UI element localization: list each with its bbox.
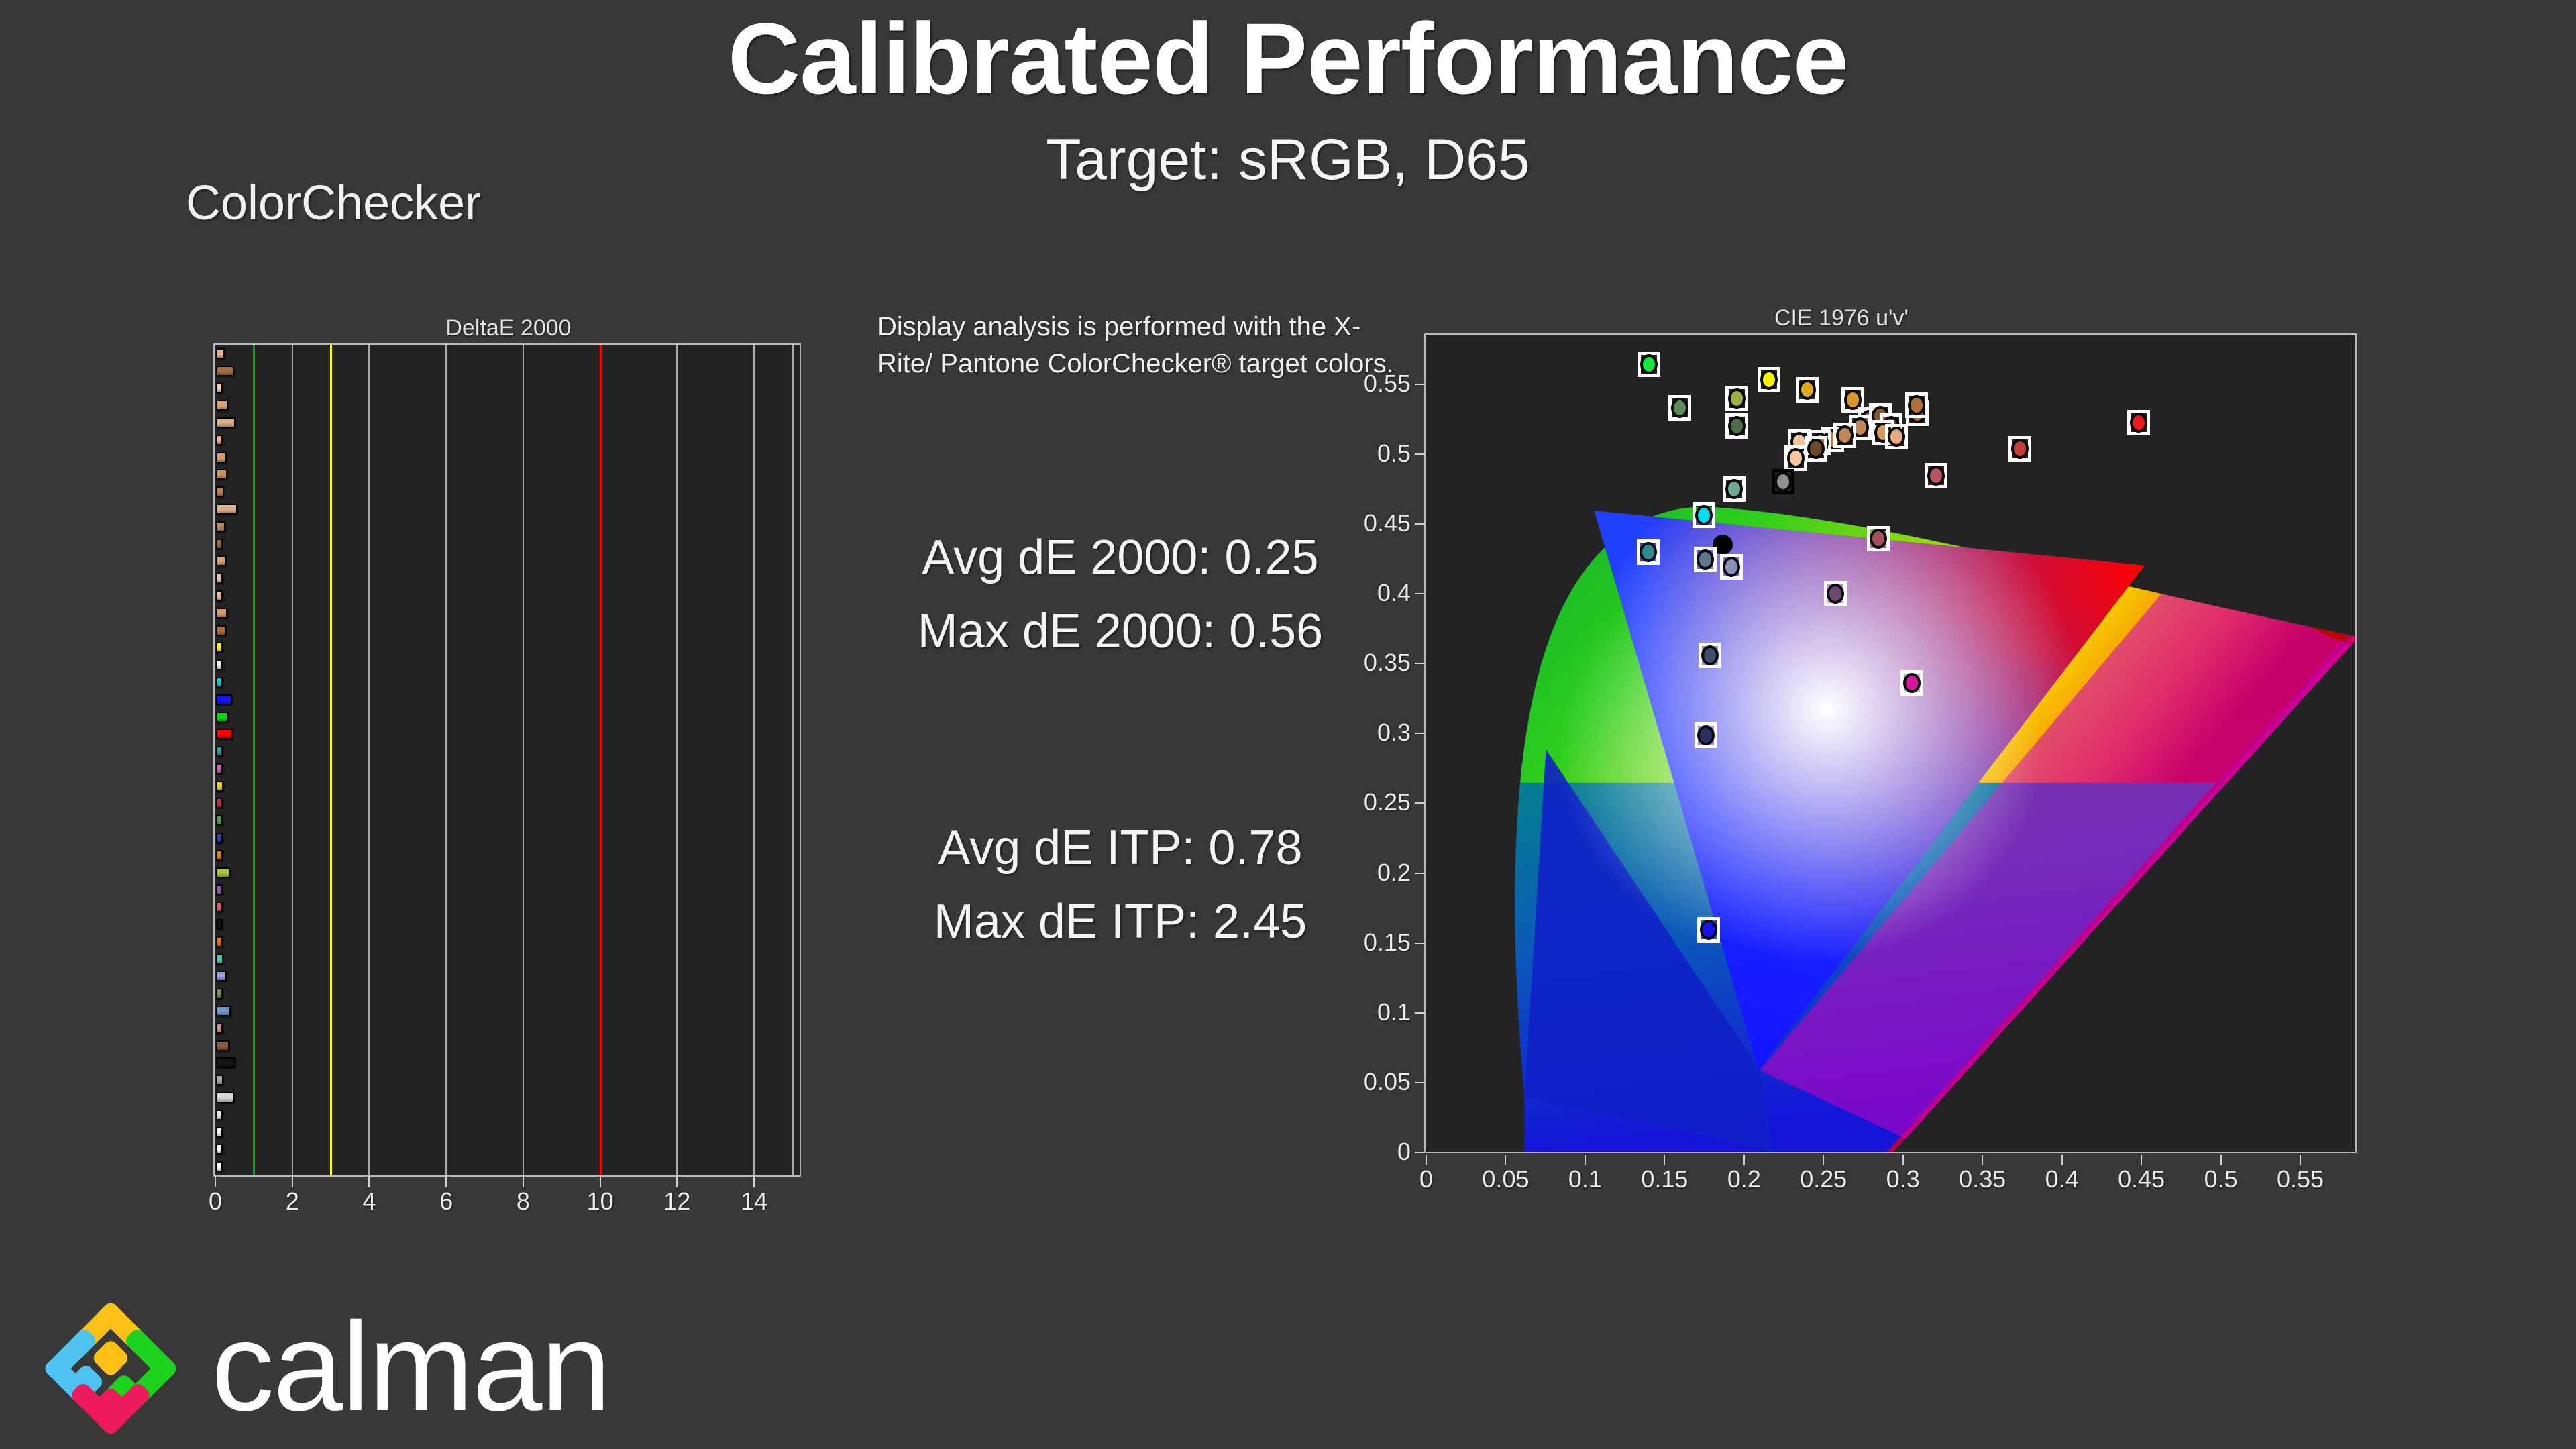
- cie-measured-dot: [1774, 472, 1792, 492]
- cie-ytick: [1415, 873, 1424, 874]
- deltae-bar: [216, 746, 223, 757]
- cie-ytick: [1415, 1082, 1424, 1083]
- cie-xtick-label: 0.4: [2045, 1165, 2079, 1193]
- cie-ytick: [1415, 384, 1424, 385]
- deltae-bar: [216, 1023, 223, 1034]
- deltae-x-axis: 02468101214: [213, 1177, 804, 1224]
- deltae-bar: [216, 902, 223, 912]
- cie-measured-dot: [1723, 557, 1740, 577]
- deltae-bar: [216, 1110, 223, 1120]
- deltae-xtick-label: 0: [209, 1187, 222, 1216]
- deltae-bar: [216, 1092, 234, 1103]
- deltae-bar: [216, 936, 223, 947]
- deltae-bar: [216, 659, 223, 670]
- cie-measured-dot: [1728, 416, 1746, 436]
- cie-measured-dot: [1700, 920, 1717, 940]
- cie-xtick-label: 0.45: [2118, 1165, 2165, 1193]
- deltae-xtick: [676, 1177, 678, 1187]
- deltae-bar: [216, 815, 223, 826]
- cie-xtick-label: 0.5: [2204, 1165, 2238, 1193]
- deltae-bar: [216, 729, 233, 739]
- cie-xtick: [2141, 1155, 2142, 1165]
- cie-ytick: [1415, 663, 1424, 664]
- deltae-xtick-label: 4: [362, 1187, 376, 1216]
- deltae-bar: [216, 1006, 231, 1016]
- deltae-bar: [216, 573, 223, 584]
- cie-measured-dot: [1725, 479, 1743, 499]
- deltae-xtick: [753, 1177, 755, 1187]
- cie-xtick: [1902, 1155, 1904, 1165]
- deltae-bar: [216, 1127, 223, 1138]
- deltae-bar: [216, 712, 228, 722]
- deltae-bar: [216, 988, 223, 999]
- cie-ytick-label: 0.1: [1377, 998, 1411, 1026]
- deltae-bar: [216, 590, 223, 601]
- cie-xtick-label: 0.05: [1482, 1165, 1529, 1193]
- cie-measured-dot: [1827, 584, 1844, 604]
- deltae-bar: [216, 435, 223, 445]
- cie-measured-dot: [1799, 380, 1816, 400]
- cie-xtick-label: 0.3: [1886, 1165, 1920, 1193]
- deltae-bar: [216, 781, 223, 792]
- deltae-xtick: [523, 1177, 524, 1187]
- cie-measured-dot: [1697, 549, 1714, 570]
- deltae-xtick: [292, 1177, 293, 1187]
- deltae-xtick-label: 2: [286, 1187, 299, 1216]
- cie-measured-dot: [1870, 529, 1887, 549]
- deltae-bar: [216, 798, 223, 808]
- cie-measured-dot: [1671, 398, 1688, 418]
- deltae-xtick-label: 12: [663, 1187, 690, 1216]
- cie-xtick: [1585, 1155, 1586, 1165]
- deltae-xtick: [368, 1177, 370, 1187]
- cie-measured-dot: [1760, 370, 1778, 390]
- analysis-note: Display analysis is performed with the X…: [877, 309, 1401, 382]
- cie-x-axis: 00.050.10.150.20.250.30.350.40.450.50.55: [1424, 1155, 2358, 1201]
- cie-ytick-label: 0.25: [1364, 788, 1411, 816]
- deltae-bar: [216, 677, 223, 688]
- deltae-bar: [216, 1040, 229, 1051]
- stat-max-deitp: Max dE ITP: 2.45: [785, 898, 1456, 946]
- cie-xtick: [1426, 1155, 1427, 1165]
- cie-xtick-label: 0.2: [1727, 1165, 1761, 1193]
- cie-measured-dot: [1927, 466, 1945, 486]
- deltae-bar: [216, 400, 228, 411]
- cie-ytick: [1415, 802, 1424, 804]
- cie-xtick: [2061, 1155, 2063, 1165]
- deltae-xtick-label: 8: [517, 1187, 530, 1216]
- deltae-bar: [216, 366, 234, 376]
- cie-measured-dot: [1728, 388, 1746, 409]
- cie-xtick: [1823, 1155, 1824, 1165]
- cie-ytick-label: 0: [1397, 1138, 1411, 1166]
- cie-ytick: [1415, 453, 1424, 455]
- cie-measured-dot: [1640, 354, 1658, 374]
- deltae-bar: [216, 694, 232, 705]
- cie-ytick-label: 0.55: [1364, 370, 1411, 398]
- cie-measured-dot: [2011, 439, 2029, 459]
- cie-measured-dot: [1807, 439, 1825, 459]
- cie-xtick-label: 0: [1419, 1165, 1433, 1193]
- stat-avg-deitp: Avg dE ITP: 0.78: [785, 824, 1456, 872]
- deltae-bar: [216, 833, 223, 843]
- deltae-xtick-label: 10: [587, 1187, 614, 1216]
- cie-ytick: [1415, 593, 1424, 594]
- deltae-bar: [216, 486, 224, 497]
- deltae-chart-title: DeltaE 2000: [213, 315, 804, 341]
- deltae-bar: [216, 1057, 235, 1068]
- cie-xtick: [1743, 1155, 1745, 1165]
- deltae-bar: [216, 417, 235, 428]
- deltae-xtick: [215, 1177, 216, 1187]
- deltae-bar: [216, 1161, 223, 1172]
- deltae-bar: [216, 382, 223, 393]
- section-label-colorchecker: ColorChecker: [186, 176, 481, 231]
- cie-xtick-label: 0.35: [1959, 1165, 2006, 1193]
- cie-measured-dot: [1695, 505, 1713, 525]
- deltae-xtick-label: 14: [741, 1187, 767, 1216]
- cie-ytick-label: 0.3: [1377, 718, 1411, 747]
- deltae-xtick: [600, 1177, 601, 1187]
- deltae-bar: [216, 919, 223, 930]
- cie-ytick: [1415, 733, 1424, 734]
- page-title: Calibrated Performance: [0, 8, 2576, 109]
- cie-ytick-label: 0.35: [1364, 649, 1411, 677]
- cie-measured-dot: [1640, 542, 1657, 562]
- deltae-bar: [216, 1144, 223, 1155]
- cie-measured-dot: [1787, 448, 1805, 468]
- cie-xtick-label: 0.25: [1800, 1165, 1847, 1193]
- cie-ytick: [1415, 1152, 1424, 1153]
- deltae-bar: [216, 1075, 223, 1085]
- deltae-bar: [216, 608, 227, 619]
- deltae-bar: [216, 884, 223, 895]
- cie-y-axis: 00.050.10.150.20.250.30.350.40.450.50.55: [1372, 333, 1424, 1153]
- cie-xtick-label: 0.55: [2277, 1165, 2324, 1193]
- cie-ytick-label: 0.05: [1364, 1068, 1411, 1096]
- deltae-bar: [216, 539, 223, 549]
- deltae-xtick: [445, 1177, 447, 1187]
- cie-xtick: [1664, 1155, 1665, 1165]
- cie-xtick-label: 0.15: [1641, 1165, 1688, 1193]
- deltae-bar: [216, 867, 230, 878]
- deltae-bars: [215, 345, 800, 1175]
- cie-ytick: [1415, 1012, 1424, 1014]
- cie-measurement-points: [1426, 335, 2355, 1152]
- deltae-bar: [216, 954, 223, 965]
- deltae-bar: [216, 521, 225, 532]
- cie-chart-panel: CIE 1976 u'v' 00.050.10.150.20.250.30.35…: [1372, 305, 2358, 1177]
- cie-ytick-label: 0.5: [1377, 439, 1411, 468]
- deltae-xtick-label: 6: [439, 1187, 453, 1216]
- cie-xtick: [2300, 1155, 2301, 1165]
- cie-measured-dot: [2130, 413, 2147, 433]
- deltae-bar: [216, 504, 237, 515]
- cie-measured-dot: [1836, 425, 1854, 445]
- cie-ytick-label: 0.2: [1377, 859, 1411, 887]
- stat-avg-de2000: Avg dE 2000: 0.25: [785, 533, 1456, 582]
- cie-xtick: [1505, 1155, 1506, 1165]
- cie-chart-title: CIE 1976 u'v': [1372, 305, 2311, 331]
- cie-xtick-label: 0.1: [1568, 1165, 1602, 1193]
- cie-measured-dot: [1903, 673, 1921, 693]
- calman-diamond-icon: [40, 1297, 181, 1441]
- cie-ytick: [1415, 523, 1424, 525]
- deltae-chart-panel: DeltaE 2000 02468101214: [213, 315, 804, 1181]
- deltae-bar: [216, 452, 227, 463]
- cie-ytick-label: 0.4: [1377, 579, 1411, 607]
- deltae-bar: [216, 971, 227, 981]
- cie-measured-dot: [1701, 645, 1719, 665]
- cie-ytick: [1415, 943, 1424, 944]
- deltae-bar: [216, 555, 226, 566]
- cie-measured-dot: [1697, 725, 1715, 745]
- deltae-bar: [216, 625, 226, 636]
- cie-xtick: [1982, 1155, 1983, 1165]
- calman-logo: calman: [40, 1291, 711, 1446]
- cie-measured-dot: [1908, 395, 1925, 415]
- deltae-bar: [216, 642, 223, 653]
- cie-xtick: [2220, 1155, 2222, 1165]
- deltae-bar: [216, 469, 227, 480]
- deltae-plot-area: [213, 343, 801, 1177]
- cie-measured-dot: [1888, 427, 1905, 447]
- deltae-bar: [216, 763, 223, 774]
- calman-wordmark: calman: [211, 1303, 610, 1430]
- deltae-bar: [216, 850, 223, 861]
- cie-ytick-label: 0.45: [1364, 509, 1411, 537]
- deltae-bar: [216, 348, 225, 359]
- cie-ytick-label: 0.15: [1364, 928, 1411, 957]
- stat-max-de2000: Max dE 2000: 0.56: [785, 607, 1456, 655]
- cie-plot-area: [1424, 333, 2357, 1153]
